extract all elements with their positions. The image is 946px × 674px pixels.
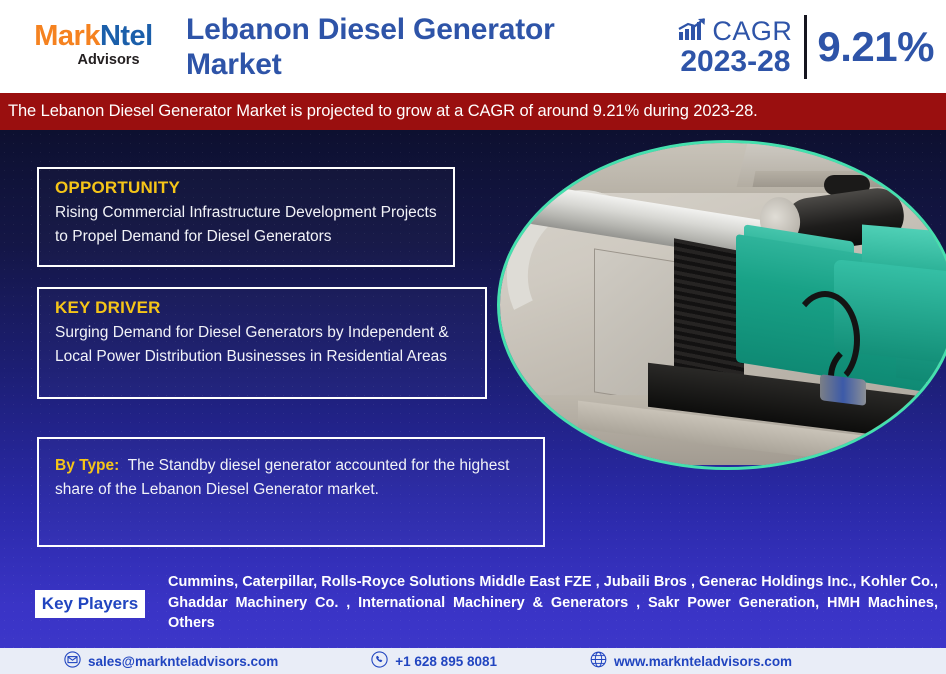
by-type-box: By Type: The Standby diesel generator ac… bbox=[37, 437, 545, 547]
key-players-label: Key Players bbox=[35, 590, 145, 618]
cagr-block: CAGR 2023-28 9.21% bbox=[678, 10, 940, 84]
cagr-value: 9.21% bbox=[807, 23, 940, 71]
generator-photo-scene bbox=[498, 141, 946, 465]
header-bar: MarkNtel Advisors Lebanon Diesel Generat… bbox=[0, 0, 946, 93]
cagr-label: CAGR bbox=[712, 18, 792, 45]
by-type-text: The Standby diesel generator accounted f… bbox=[55, 457, 509, 498]
by-type-content: By Type: The Standby diesel generator ac… bbox=[55, 454, 529, 502]
footer-bar: sales@marknteladvisors.com +1 628 895 80… bbox=[0, 648, 946, 674]
logo-ntel-text: Ntel bbox=[100, 20, 153, 52]
opportunity-text: Rising Commercial Infrastructure Develop… bbox=[55, 201, 439, 249]
cagr-label-row: CAGR bbox=[678, 18, 792, 46]
key-players-list: Cummins, Caterpillar, Rolls-Royce Soluti… bbox=[168, 572, 938, 634]
opportunity-heading: OPPORTUNITY bbox=[55, 178, 439, 198]
footer-website-text: www.marknteladvisors.com bbox=[614, 654, 792, 669]
infographic-poster: MarkNtel Advisors Lebanon Diesel Generat… bbox=[0, 0, 946, 674]
phone-icon bbox=[371, 651, 388, 671]
key-driver-box: KEY DRIVER Surging Demand for Diesel Gen… bbox=[37, 287, 487, 399]
logo-subtitle: Advisors bbox=[27, 53, 160, 68]
footer-phone-text: +1 628 895 8081 bbox=[395, 654, 497, 669]
key-driver-heading: KEY DRIVER bbox=[55, 298, 471, 318]
logo-mark-text: Mark bbox=[34, 20, 100, 52]
opportunity-box: OPPORTUNITY Rising Commercial Infrastruc… bbox=[37, 167, 455, 267]
footer-email-text: sales@marknteladvisors.com bbox=[88, 654, 278, 669]
key-driver-text: Surging Demand for Diesel Generators by … bbox=[55, 321, 471, 369]
company-logo[interactable]: MarkNtel Advisors bbox=[27, 22, 160, 68]
globe-icon bbox=[590, 651, 607, 671]
footer-email[interactable]: sales@marknteladvisors.com bbox=[64, 651, 278, 671]
cagr-years: 2023-28 bbox=[678, 47, 792, 77]
generator-photo bbox=[497, 140, 946, 470]
bar-chart-arrow-up-icon bbox=[678, 18, 708, 46]
headline-banner: The Lebanon Diesel Generator Market is p… bbox=[0, 93, 946, 130]
logo-wordmark: MarkNtel bbox=[27, 22, 160, 51]
envelope-icon bbox=[64, 651, 81, 671]
footer-phone[interactable]: +1 628 895 8081 bbox=[371, 651, 497, 671]
footer-website[interactable]: www.marknteladvisors.com bbox=[590, 651, 792, 671]
cagr-left-group: CAGR 2023-28 bbox=[678, 18, 804, 77]
by-type-label: By Type: bbox=[55, 457, 119, 474]
page-title: Lebanon Diesel Generator Market bbox=[186, 12, 626, 82]
